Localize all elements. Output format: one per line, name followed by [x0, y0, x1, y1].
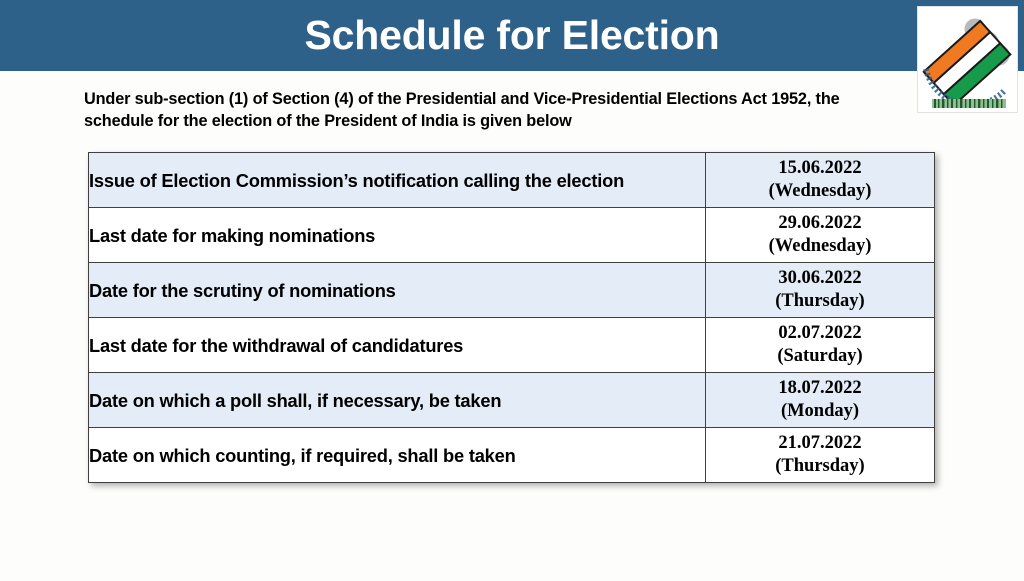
subtitle-text: Under sub-section (1) of Section (4) of …: [84, 88, 906, 132]
table-row: Last date for making nominations 29.06.2…: [89, 208, 935, 263]
day-value: (Wednesday): [706, 180, 934, 203]
day-value: (Thursday): [706, 290, 934, 313]
event-description: Date on which a poll shall, if necessary…: [89, 373, 706, 428]
date-value: 29.06.2022: [706, 212, 934, 235]
table-row: Issue of Election Commission’s notificat…: [89, 153, 935, 208]
event-date: 18.07.2022 (Monday): [706, 373, 935, 428]
event-description: Date for the scrutiny of nominations: [89, 263, 706, 318]
event-date: 30.06.2022 (Thursday): [706, 263, 935, 318]
table-row: Date on which a poll shall, if necessary…: [89, 373, 935, 428]
table-row: Date for the scrutiny of nominations 30.…: [89, 263, 935, 318]
election-schedule-table: Issue of Election Commission’s notificat…: [88, 152, 935, 483]
event-date: 21.07.2022 (Thursday): [706, 428, 935, 483]
day-value: (Monday): [706, 400, 934, 423]
date-value: 02.07.2022: [706, 322, 934, 345]
event-description: Issue of Election Commission’s notificat…: [89, 153, 706, 208]
day-value: (Wednesday): [706, 235, 934, 258]
event-date: 02.07.2022 (Saturday): [706, 318, 935, 373]
page-title: Schedule for Election: [0, 0, 1024, 71]
event-description: Last date for the withdrawal of candidat…: [89, 318, 706, 373]
event-description: Date on which counting, if required, sha…: [89, 428, 706, 483]
date-value: 30.06.2022: [706, 267, 934, 290]
day-value: (Saturday): [706, 345, 934, 368]
event-date: 29.06.2022 (Wednesday): [706, 208, 935, 263]
event-date: 15.06.2022 (Wednesday): [706, 153, 935, 208]
date-value: 21.07.2022: [706, 432, 934, 455]
table-row: Last date for the withdrawal of candidat…: [89, 318, 935, 373]
schedule-table-body: Issue of Election Commission’s notificat…: [89, 153, 935, 483]
election-commission-of-india-logo: [917, 6, 1018, 113]
day-value: (Thursday): [706, 455, 934, 478]
date-value: 15.06.2022: [706, 157, 934, 180]
event-description: Last date for making nominations: [89, 208, 706, 263]
date-value: 18.07.2022: [706, 377, 934, 400]
table-row: Date on which counting, if required, sha…: [89, 428, 935, 483]
